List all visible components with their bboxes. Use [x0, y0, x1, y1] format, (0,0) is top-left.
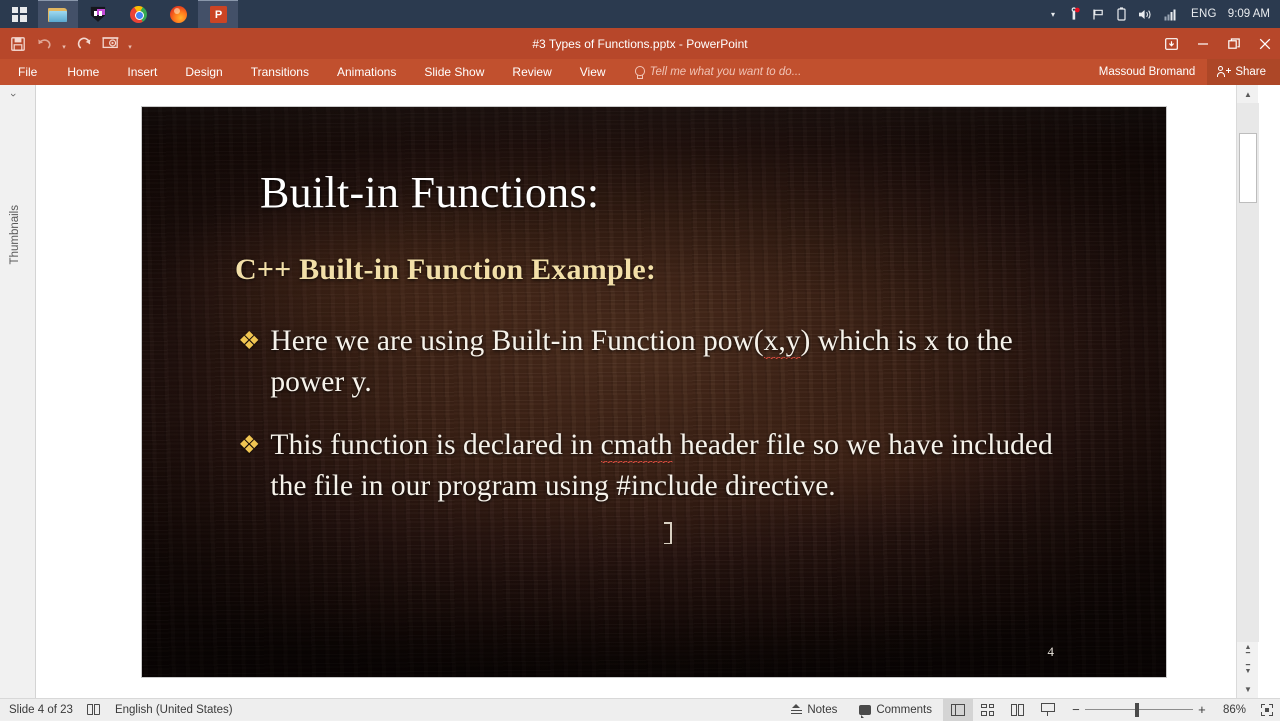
- proofing-icon[interactable]: [87, 704, 101, 716]
- windows-taskbar: P ▾ ENG 9:09 AM: [0, 0, 1280, 28]
- zoom-slider[interactable]: [1085, 699, 1193, 721]
- scrollbar-thumb[interactable]: [1239, 133, 1257, 203]
- window-controls: [1156, 28, 1280, 59]
- slide-bullet-item[interactable]: ❖ This function is declared in cmath hea…: [238, 425, 1068, 507]
- powerpoint-icon: P: [210, 6, 227, 23]
- comments-label: Comments: [876, 704, 932, 716]
- redo-icon[interactable]: [72, 32, 96, 56]
- bullet-text: Here we are using Built-in Function pow(…: [270, 321, 1038, 403]
- slide-sorter-view-button[interactable]: [973, 699, 1003, 721]
- volume-icon[interactable]: [1132, 0, 1158, 28]
- slide-number-placeholder: 4: [1048, 644, 1055, 660]
- start-button[interactable]: [0, 0, 38, 28]
- previous-slide-button[interactable]: ▲━: [1237, 642, 1259, 660]
- account-name[interactable]: Massoud Bromand: [1087, 66, 1208, 78]
- tell-me-search[interactable]: Tell me what you want to do...: [634, 66, 802, 79]
- scroll-up-button[interactable]: ▲: [1237, 85, 1259, 103]
- ribbon-display-options-button[interactable]: [1156, 28, 1187, 59]
- slide-title-placeholder[interactable]: Built-in Functions:: [260, 167, 599, 218]
- zoom-control: − +: [1063, 699, 1215, 721]
- bullet-text-pre: This function is declared in: [270, 429, 600, 461]
- zoom-in-button[interactable]: +: [1193, 702, 1211, 717]
- slide-show-icon: [1041, 703, 1055, 716]
- language-status[interactable]: English (United States): [101, 704, 233, 716]
- undo-dropdown-icon[interactable]: ▾: [58, 32, 70, 56]
- chevron-down-icon[interactable]: ▾: [124, 32, 136, 56]
- share-button[interactable]: Share: [1207, 59, 1280, 85]
- flag-icon[interactable]: [1086, 0, 1111, 28]
- comments-button[interactable]: Comments: [848, 699, 943, 721]
- quick-access-toolbar: ▾ ▾: [0, 32, 136, 56]
- slide-canvas[interactable]: Built-in Functions: C++ Built-in Functio…: [142, 107, 1166, 677]
- firefox-icon: [170, 6, 187, 23]
- battery-icon[interactable]: [1111, 0, 1132, 28]
- bullet-text-pre: Here we are using Built-in Function pow(: [270, 325, 763, 357]
- zoom-slider-thumb[interactable]: [1135, 703, 1139, 717]
- taskbar-item-dark-app[interactable]: [78, 0, 118, 28]
- normal-view-button[interactable]: [943, 699, 973, 721]
- shield-app-icon: [90, 6, 107, 23]
- security-icon[interactable]: [1062, 0, 1086, 28]
- windows-logo-icon: [12, 7, 27, 22]
- tab-transitions[interactable]: Transitions: [237, 59, 323, 85]
- double-up-chevron-icon: ▲━: [1245, 645, 1252, 657]
- network-icon[interactable]: [1158, 0, 1184, 28]
- tab-file[interactable]: File: [0, 59, 53, 85]
- slide-editing-area: Built-in Functions: C++ Built-in Functio…: [36, 85, 1258, 698]
- zoom-slider-track: [1085, 709, 1193, 710]
- tab-animations[interactable]: Animations: [323, 59, 410, 85]
- save-icon[interactable]: [6, 32, 30, 56]
- bullet-diamond-icon: ❖: [238, 321, 260, 362]
- reading-view-button[interactable]: [1003, 699, 1033, 721]
- next-slide-button[interactable]: ━▼: [1237, 660, 1259, 678]
- slide-counter[interactable]: Slide 4 of 23: [0, 704, 73, 716]
- bullet-diamond-icon: ❖: [238, 425, 260, 466]
- tab-insert[interactable]: Insert: [113, 59, 171, 85]
- slide-subtitle-text[interactable]: C++ Built-in Function Example:: [235, 253, 656, 287]
- ribbon-tab-bar: File Home Insert Design Transitions Anim…: [0, 59, 1280, 85]
- comment-icon: [859, 705, 871, 715]
- tab-design[interactable]: Design: [171, 59, 236, 85]
- tab-view[interactable]: View: [566, 59, 620, 85]
- editor-workspace: › Thumbnails Built-in Functions: C++ Bui…: [0, 85, 1280, 698]
- add-person-icon: [1217, 66, 1230, 79]
- taskbar-item-chrome[interactable]: [118, 0, 158, 28]
- status-bar-right-group: Notes Comments − + 86%: [780, 699, 1280, 721]
- restore-button[interactable]: [1218, 28, 1249, 59]
- tab-home[interactable]: Home: [53, 59, 113, 85]
- spellcheck-flagged-word: cmath: [601, 429, 673, 463]
- tab-slide-show[interactable]: Slide Show: [410, 59, 498, 85]
- thumbnails-pane-label: Thumbnails: [9, 205, 21, 264]
- taskbar-item-firefox[interactable]: [158, 0, 198, 28]
- show-hidden-icons-button[interactable]: ▾: [1047, 10, 1062, 19]
- thumbnails-pane-collapsed[interactable]: › Thumbnails: [0, 85, 36, 698]
- close-button[interactable]: [1249, 28, 1280, 59]
- taskbar-item-file-explorer[interactable]: [38, 0, 78, 28]
- fit-to-window-icon: [1261, 704, 1273, 716]
- fit-slide-to-window-button[interactable]: [1254, 699, 1280, 721]
- expand-thumbnails-chevron-icon[interactable]: ›: [7, 93, 19, 97]
- tell-me-placeholder: Tell me what you want to do...: [650, 66, 802, 78]
- chrome-icon: [130, 6, 147, 23]
- slide-show-button[interactable]: [1033, 699, 1063, 721]
- zoom-percentage[interactable]: 86%: [1215, 704, 1254, 716]
- undo-icon[interactable]: [32, 32, 56, 56]
- tab-review[interactable]: Review: [498, 59, 565, 85]
- notes-button[interactable]: Notes: [780, 699, 848, 721]
- bullet-text: This function is declared in cmath heade…: [270, 425, 1068, 507]
- folder-icon: [48, 7, 68, 23]
- lightbulb-icon: [634, 66, 644, 79]
- normal-view-icon: [951, 704, 965, 716]
- vertical-scrollbar[interactable]: ▲ ▼ ▲━ ━▼: [1236, 85, 1258, 698]
- presentation-icon[interactable]: [98, 32, 122, 56]
- notes-label: Notes: [807, 704, 837, 716]
- taskbar-item-powerpoint[interactable]: P: [198, 0, 238, 28]
- ribbon-right-group: Massoud Bromand Share: [1087, 59, 1280, 85]
- system-tray: ▾ ENG 9:09 AM: [1047, 0, 1280, 28]
- zoom-out-button[interactable]: −: [1067, 702, 1085, 717]
- document-title: #3 Types of Functions.pptx - PowerPoint: [0, 37, 1280, 51]
- title-bar: ▾ ▾ #3 Types of Functions.pptx - PowerPo…: [0, 28, 1280, 59]
- double-down-chevron-icon: ━▼: [1245, 663, 1252, 675]
- share-label: Share: [1235, 66, 1266, 78]
- taskbar-clock[interactable]: 9:09 AM: [1224, 8, 1280, 20]
- reading-view-icon: [1011, 704, 1025, 716]
- slide-bullet-item[interactable]: ❖ Here we are using Built-in Function po…: [238, 321, 1038, 403]
- scroll-down-button[interactable]: ▼: [1237, 680, 1259, 698]
- notes-icon: [791, 704, 802, 715]
- language-indicator[interactable]: ENG: [1184, 8, 1224, 20]
- status-bar: Slide 4 of 23 English (United States) No…: [0, 698, 1280, 720]
- text-cursor-icon: [667, 522, 669, 544]
- spellcheck-flagged-word: x,y: [764, 325, 801, 359]
- minimize-button[interactable]: [1187, 28, 1218, 59]
- slide-sorter-icon: [981, 704, 994, 716]
